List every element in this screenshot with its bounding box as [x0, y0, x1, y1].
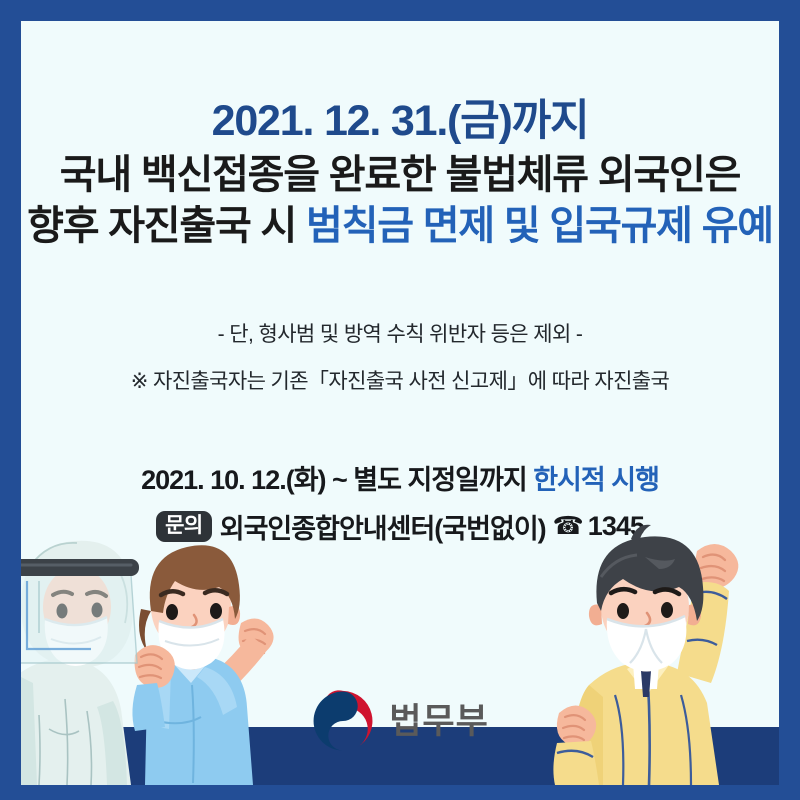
figure-yellow-jacket-man	[553, 525, 738, 785]
poster-panel: 2021. 12. 31.(금)까지 국내 백신접종을 완료한 불법체류 외국인…	[21, 21, 779, 785]
taegeuk-icon	[311, 689, 375, 753]
subnote-procedure: ※ 자진출국자는 기존「자진출국 사전 신고제」에 따라 자진출국	[21, 365, 779, 395]
illustration-healthcare-workers	[21, 515, 309, 785]
figure-nurse-blue	[132, 545, 273, 785]
headline-line-2: 국내 백신접종을 완료한 불법체류 외국인은	[21, 155, 779, 195]
headline-block: 2021. 12. 31.(금)까지 국내 백신접종을 완료한 불법체류 외국인…	[21, 100, 779, 246]
headline-line-3-prefix: 향후 자진출국 시	[27, 204, 306, 248]
headline-line-3-accent: 범칙금 면제 및 입국규제 유예	[306, 204, 773, 248]
figure-ppe-worker	[21, 541, 139, 785]
schedule-period-accent: 한시적 시행	[533, 465, 659, 495]
subnotes-block: - 단, 형사범 및 방역 수칙 위반자 등은 제외 - ※ 자진출국자는 기존…	[21, 318, 779, 395]
poster-canvas: 2021. 12. 31.(금)까지 국내 백신접종을 완료한 불법체류 외국인…	[0, 0, 800, 800]
ministry-name: 법무부	[389, 704, 489, 739]
headline-line-3: 향후 자진출국 시 범칙금 면제 및 입국규제 유예	[21, 206, 779, 246]
schedule-period-prefix: 2021. 10. 12.(화) ~ 별도 지정일까지	[141, 465, 533, 495]
schedule-period: 2021. 10. 12.(화) ~ 별도 지정일까지 한시적 시행	[21, 458, 779, 497]
subnote-exclusion: - 단, 형사범 및 방역 수칙 위반자 등은 제외 -	[21, 318, 779, 348]
headline-line-1: 2021. 12. 31.(금)까지	[21, 100, 779, 143]
illustration-young-man	[535, 517, 779, 785]
